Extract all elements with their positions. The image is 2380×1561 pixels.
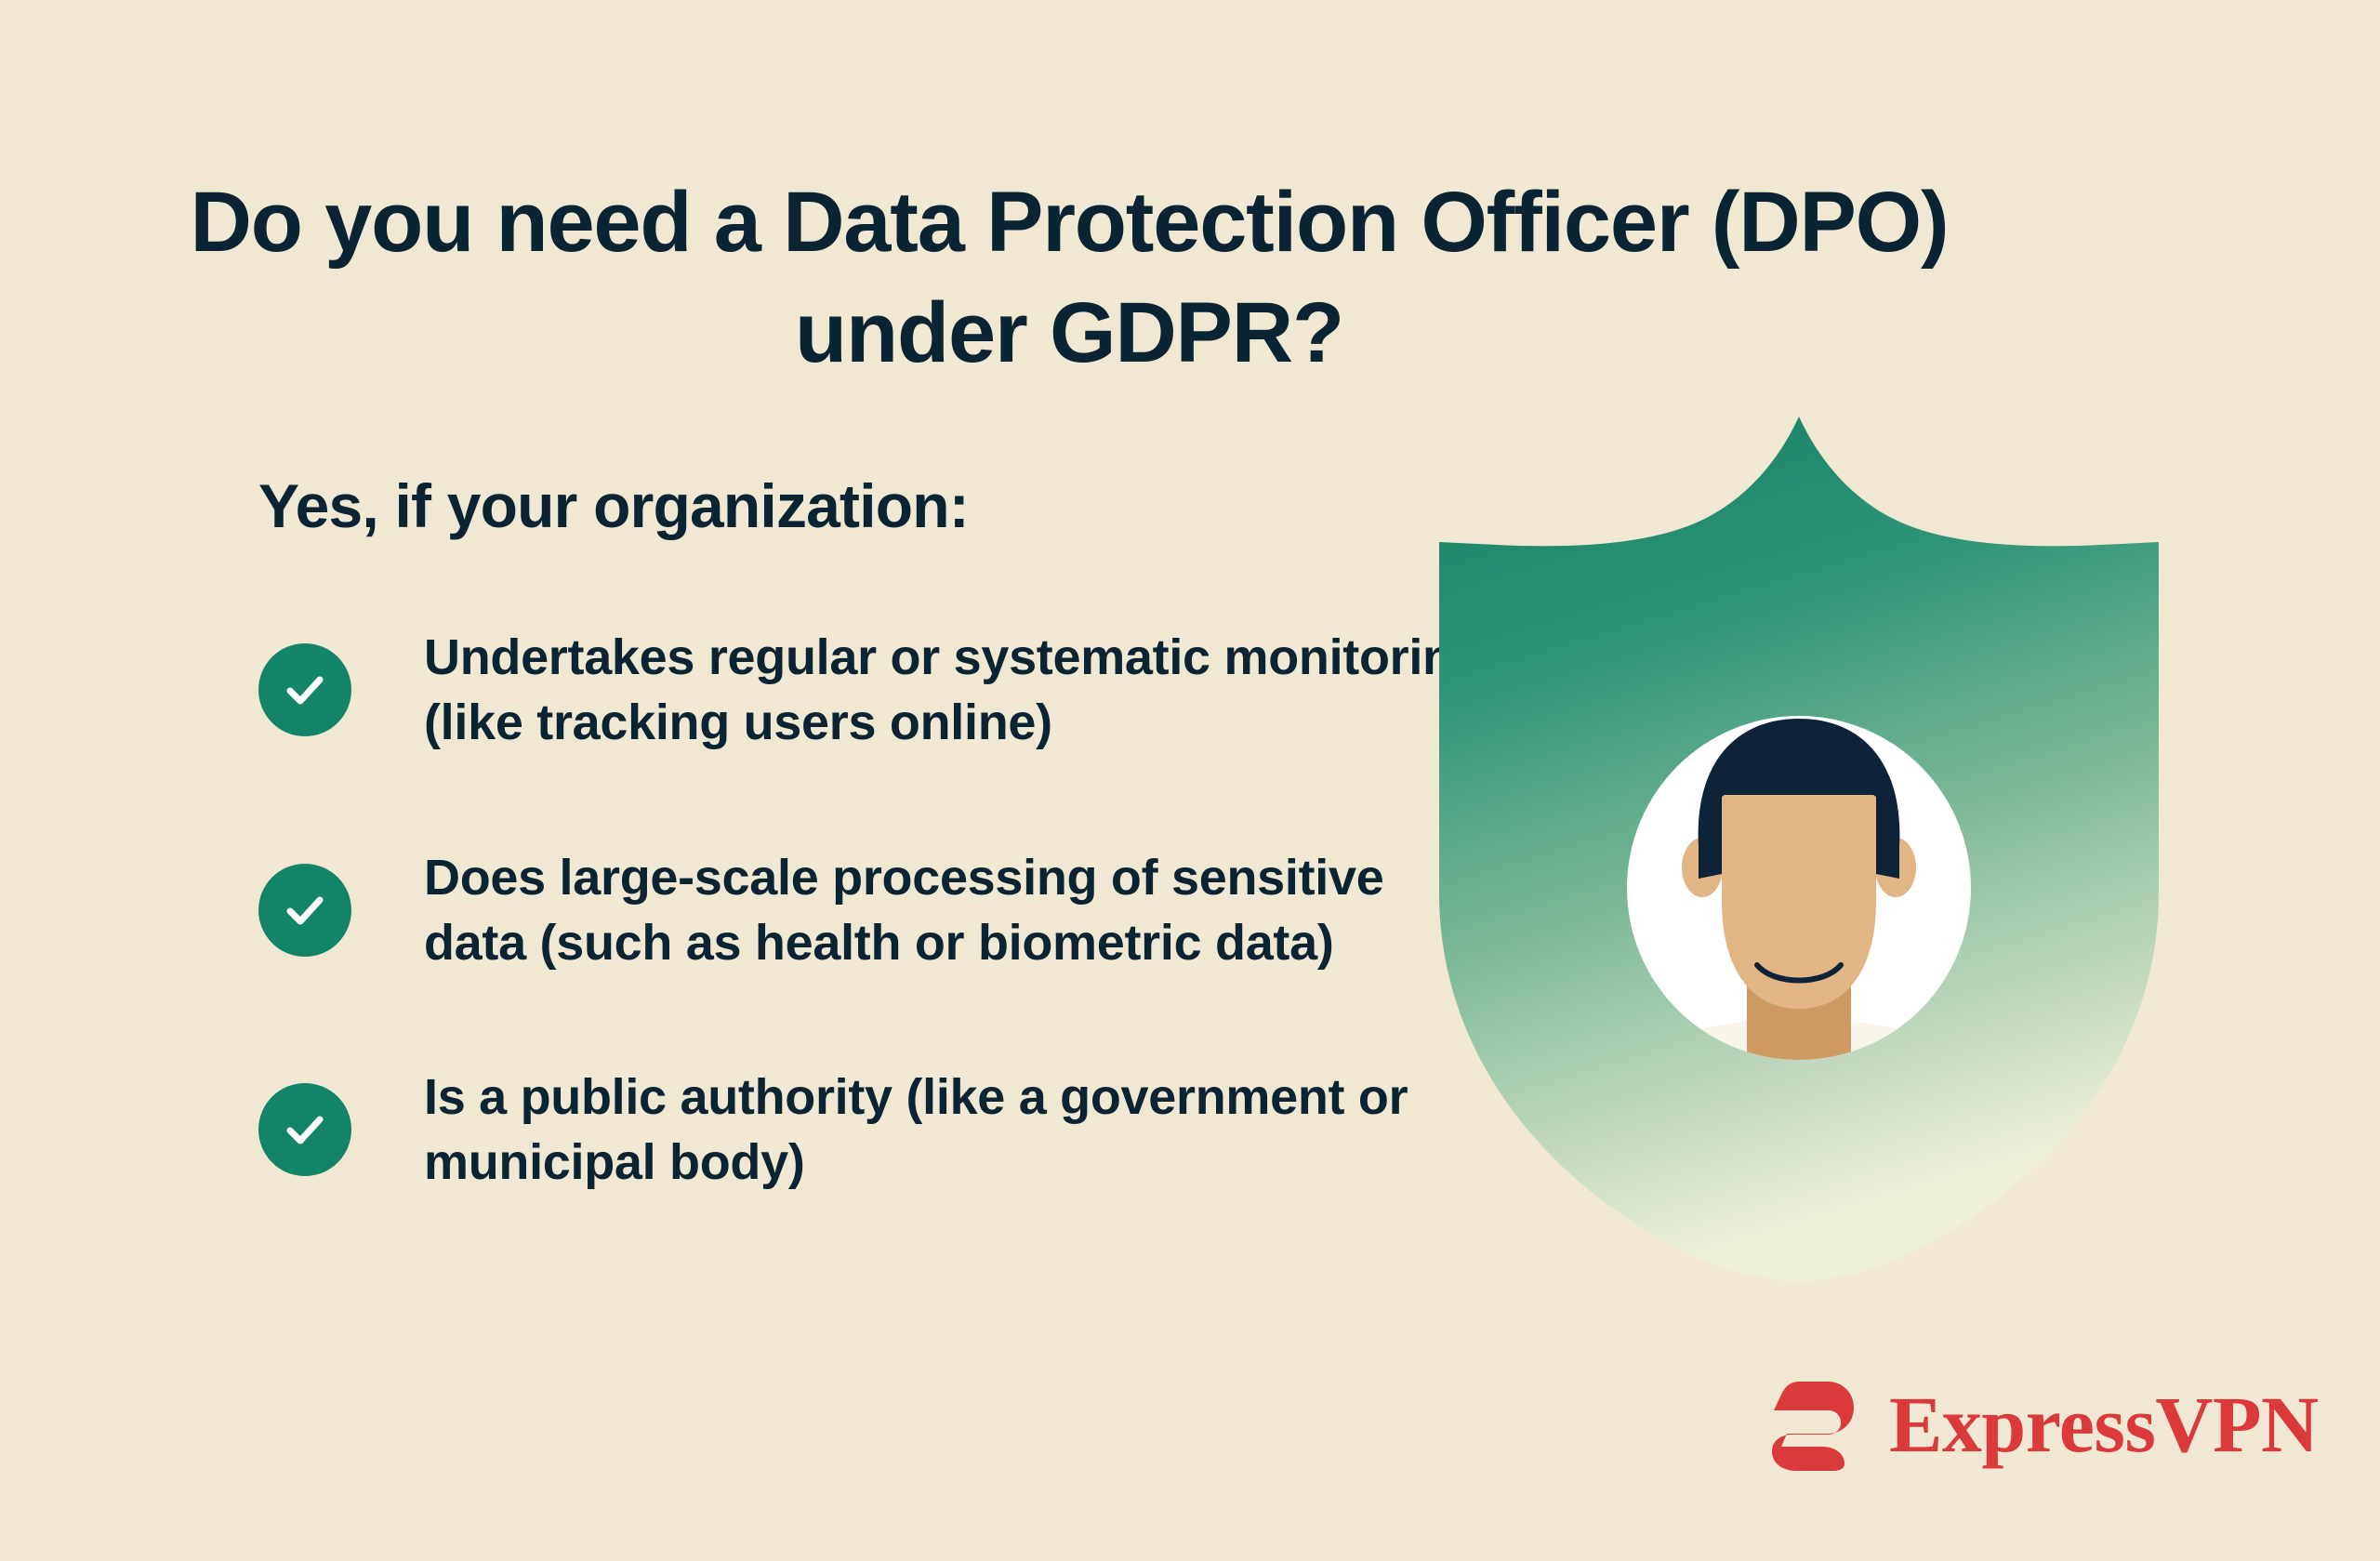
expressvpn-e-mark-icon — [1768, 1376, 1858, 1473]
shield-illustration — [1432, 409, 2166, 1292]
infographic-canvas: Do you need a Data Protection Officer (D… — [0, 0, 2380, 1561]
list-item: Undertakes regular or systematic monitor… — [258, 625, 1495, 755]
expressvpn-logo[interactable]: ExpressVPN — [1768, 1376, 2319, 1473]
check-icon — [258, 1083, 351, 1176]
page-title-line-1: Do you need a Data Protection Officer (D… — [0, 167, 2138, 279]
check-icon — [258, 864, 351, 957]
list-item-label: Undertakes regular or systematic monitor… — [424, 625, 1495, 755]
list-item: Does large-scale processing of sensitive… — [258, 845, 1495, 975]
list-item-label: Does large-scale processing of sensitive… — [424, 845, 1495, 975]
checklist-heading: Yes, if your organization: — [258, 470, 1495, 543]
list-item: Is a public authority (like a government… — [258, 1065, 1495, 1195]
page-title: Do you need a Data Protection Officer (D… — [0, 167, 2138, 390]
checklist: Undertakes regular or systematic monitor… — [258, 625, 1495, 1195]
checklist-column: Yes, if your organization: Undertakes re… — [258, 470, 1495, 1195]
check-icon — [258, 643, 351, 736]
expressvpn-wordmark: ExpressVPN — [1889, 1384, 2319, 1464]
list-item-label: Is a public authority (like a government… — [424, 1065, 1495, 1195]
page-title-line-2: under GDPR? — [0, 278, 2138, 390]
